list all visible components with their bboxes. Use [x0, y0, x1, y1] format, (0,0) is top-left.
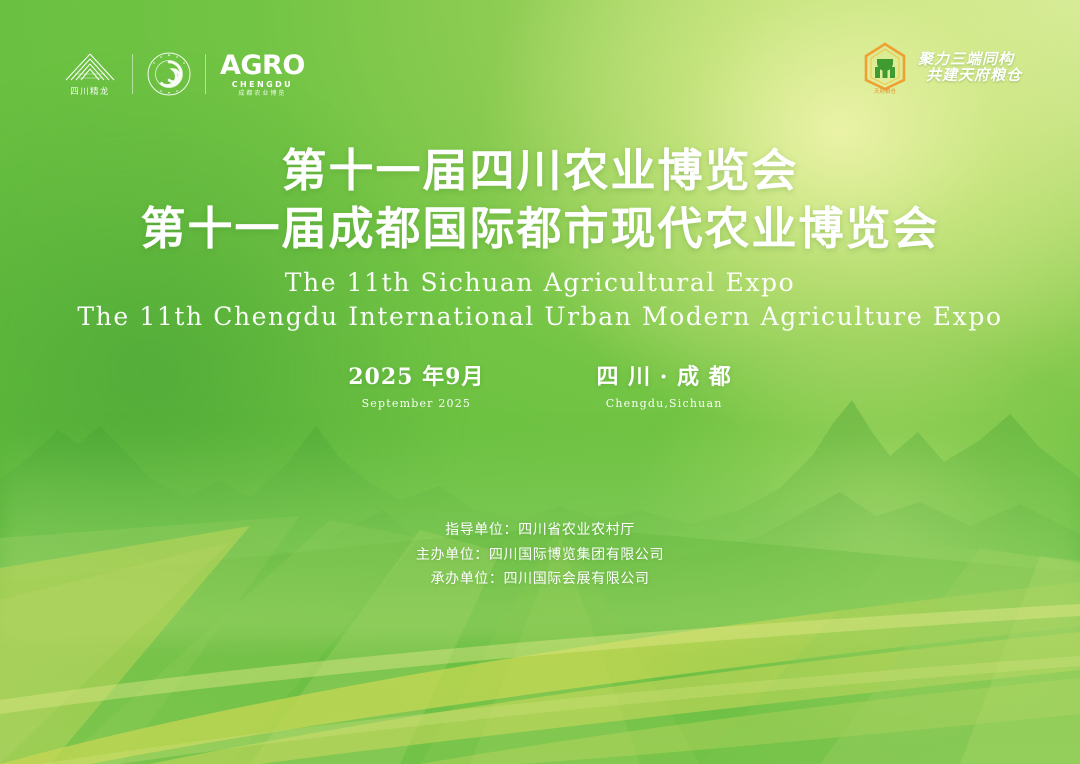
sichuan-logo: 四川精龙 — [62, 52, 118, 97]
logo-divider-2 — [205, 54, 206, 94]
logo-divider-1 — [132, 54, 133, 94]
location-block: 四 川 · 成 都 Chengdu,Sichuan — [596, 364, 731, 410]
mountain-roof-icon — [62, 52, 118, 82]
circular-seal-spiral-icon — [147, 52, 191, 96]
granary-calligraphy: 聚力三端同构 共建天府粮仓 — [918, 52, 1022, 84]
main-title-group: 第十一届四川农业博览会 第十一届成都国际都市现代农业博览会 — [0, 142, 1080, 257]
sichuan-logo-caption: 四川精龙 — [70, 85, 110, 97]
agro-sub-chengdu: CHENGDU — [232, 81, 293, 89]
agro-sub-cn: 成都农业博览 — [238, 91, 286, 97]
expo-poster: 四川精龙 AGR — [0, 0, 1080, 764]
location-main: 四 川 · 成 都 — [596, 364, 731, 392]
subtitle-group: The 11th Sichuan Agricultural Expo The 1… — [0, 266, 1080, 334]
date-main: 2025 年9月 — [348, 364, 484, 392]
agro-wordmark: AGRO — [220, 52, 305, 79]
title-cn-line-2: 第十一届成都国际都市现代农业博览会 — [0, 200, 1080, 258]
title-cn-line-1: 第十一届四川农业博览会 — [0, 142, 1080, 200]
organizer-line-organizer: 承办单位：四川国际会展有限公司 — [0, 567, 1080, 592]
poster-content: 四川精龙 AGR — [0, 0, 1080, 764]
location-sub: Chengdu,Sichuan — [596, 397, 731, 410]
svg-text:天府粮仓: 天府粮仓 — [874, 87, 897, 94]
granary-emblem: 天府粮仓 聚力三端同构 共建天府粮仓 — [862, 42, 1022, 94]
organizer-line-guidance: 指导单位：四川省农业农村厅 — [0, 518, 1080, 543]
date-sub: September 2025 — [348, 397, 484, 410]
calligraphy-line-2: 共建天府粮仓 — [926, 68, 1022, 84]
title-en-line-1: The 11th Sichuan Agricultural Expo — [0, 266, 1080, 300]
date-block: 2025 年9月 September 2025 — [348, 364, 484, 410]
logo-bar: 四川精龙 AGR — [62, 48, 305, 100]
organizer-line-host: 主办单位：四川国际博览集团有限公司 — [0, 543, 1080, 568]
title-en-line-2: The 11th Chengdu International Urban Mod… — [0, 300, 1080, 334]
granary-shield-icon: 天府粮仓 — [862, 42, 908, 94]
organizers-block: 指导单位：四川省农业农村厅 主办单位：四川国际博览集团有限公司 承办单位：四川国… — [0, 518, 1080, 592]
agro-logo: AGRO CHENGDU 成都农业博览 — [220, 52, 305, 97]
date-location-row: 2025 年9月 September 2025 四 川 · 成 都 Chengd… — [0, 364, 1080, 410]
